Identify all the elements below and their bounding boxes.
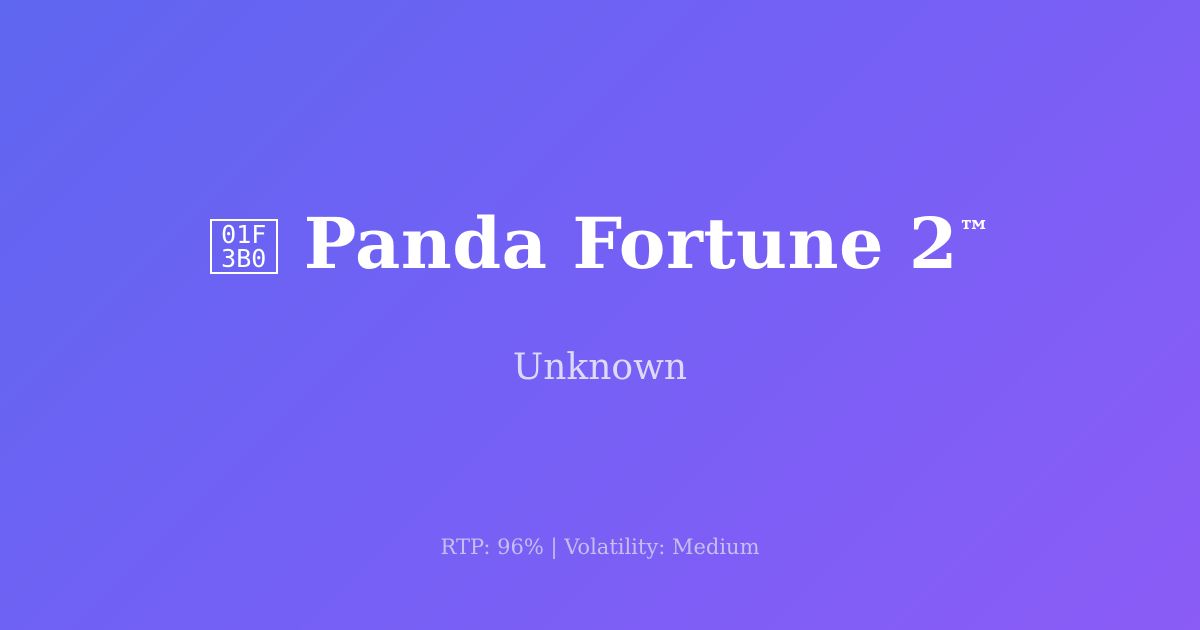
slot-machine-icon: 01F 3B0 — [210, 219, 278, 274]
game-title-text: Panda Fortune 2 — [304, 202, 958, 285]
game-meta-footer: RTP: 96% | Volatility: Medium — [0, 535, 1200, 560]
game-card-hero: 01F 3B0 Panda Fortune 2™ Unknown — [0, 207, 1200, 388]
title-row: 01F 3B0 Panda Fortune 2™ — [0, 207, 1200, 281]
slot-machine-icon-hex-bottom: 3B0 — [221, 247, 266, 271]
page-title: Panda Fortune 2™ — [304, 207, 991, 281]
trademark-symbol: ™ — [958, 214, 990, 252]
game-subtitle: Unknown — [513, 346, 687, 389]
